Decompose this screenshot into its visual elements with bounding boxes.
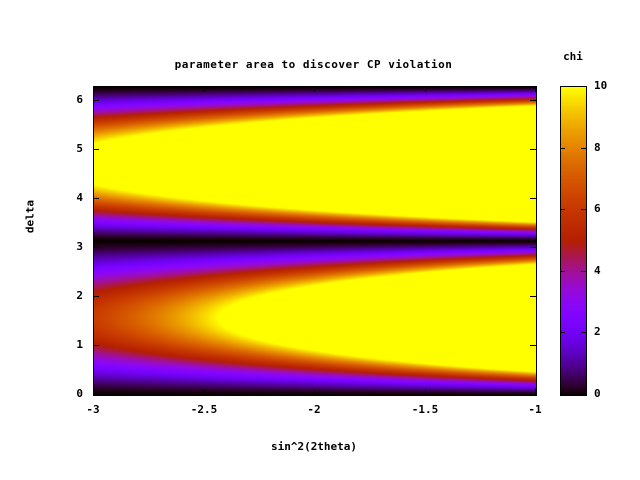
x-tick-label: -1.5 [400,404,450,415]
y-tick-label: 5 [57,143,83,154]
y-tick-mark [530,247,536,248]
colorbar-tick-label: 4 [594,265,624,276]
x-tick-mark [204,86,205,92]
x-tick-label: -2 [289,404,339,415]
colorbar-tick-mark [581,209,586,210]
colorbar-tick-mark [560,332,565,333]
x-tick-mark [314,86,315,92]
y-tick-mark [93,296,99,297]
y-tick-mark [93,149,99,150]
y-tick-label: 2 [57,290,83,301]
plot-area[interactable] [93,86,537,396]
page-title: parameter area to discover CP violation [46,58,581,71]
x-tick-mark [314,389,315,395]
colorbar-tick-label: 10 [594,80,624,91]
x-tick-label: -1 [510,404,560,415]
colorbar[interactable] [560,86,587,396]
y-tick-mark [530,345,536,346]
y-tick-label: 0 [57,388,83,399]
x-tick-mark [425,389,426,395]
x-tick-mark [93,389,94,395]
x-tick-mark [425,86,426,92]
colorbar-tick-label: 0 [594,388,624,399]
colorbar-tick-label: 2 [594,326,624,337]
colorbar-tick-label: 8 [594,142,624,153]
y-tick-label: 1 [57,339,83,350]
x-tick-mark [535,86,536,92]
y-tick-mark [530,100,536,101]
x-tick-mark [204,389,205,395]
x-tick-mark [535,389,536,395]
x-tick-mark [93,86,94,92]
colorbar-tick-mark [581,148,586,149]
y-tick-label: 6 [57,94,83,105]
x-tick-label: -2.5 [179,404,229,415]
y-tick-mark [93,247,99,248]
colorbar-tick-mark [560,148,565,149]
x-tick-label: -3 [68,404,118,415]
colorbar-title: chi [548,50,598,63]
colorbar-tick-mark [581,332,586,333]
y-tick-mark [93,198,99,199]
y-tick-label: 3 [57,241,83,252]
colorbar-tick-label: 6 [594,203,624,214]
y-tick-mark [530,149,536,150]
y-tick-mark [93,100,99,101]
heatmap-canvas[interactable] [94,87,536,395]
colorbar-canvas[interactable] [561,87,586,395]
y-tick-mark [530,198,536,199]
y-axis-label: delta [24,182,37,252]
gnuplot-figure: parameter area to discover CP violation … [0,0,640,480]
colorbar-tick-mark [560,271,565,272]
colorbar-tick-mark [560,209,565,210]
x-axis-label: sin^2(2theta) [93,440,535,453]
colorbar-tick-mark [581,271,586,272]
y-tick-mark [530,296,536,297]
y-tick-label: 4 [57,192,83,203]
y-tick-mark [93,345,99,346]
